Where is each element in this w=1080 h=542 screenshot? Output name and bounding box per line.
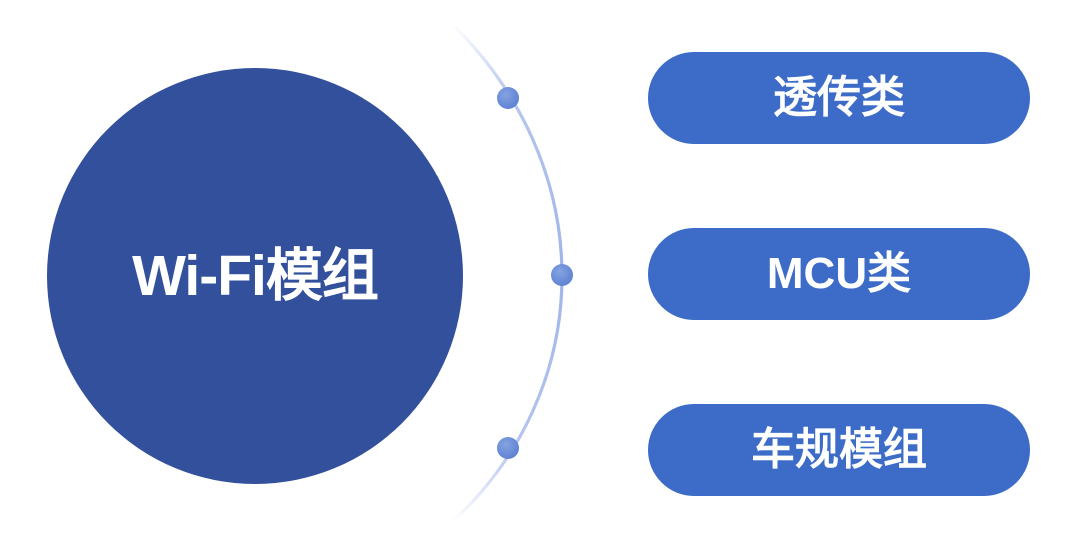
category-pill-2-label: MCU类	[767, 252, 911, 296]
category-pill-3-label: 车规模组	[751, 428, 927, 472]
hub-circle[interactable]: Wi-Fi模组	[47, 68, 463, 484]
category-pill-3[interactable]: 车规模组	[648, 404, 1030, 496]
category-pill-1[interactable]: 透传类	[648, 52, 1030, 144]
diagram-canvas: Wi-Fi模组 透传类 MCU类 车规模组	[0, 0, 1080, 542]
connector-node-1	[497, 87, 519, 109]
connector-node-2	[551, 264, 573, 286]
connector-arc-path	[452, 24, 562, 522]
connector-node-3	[497, 437, 519, 459]
category-pill-2[interactable]: MCU类	[648, 228, 1030, 320]
hub-label: Wi-Fi模组	[132, 248, 378, 305]
category-pill-1-label: 透传类	[773, 76, 905, 120]
